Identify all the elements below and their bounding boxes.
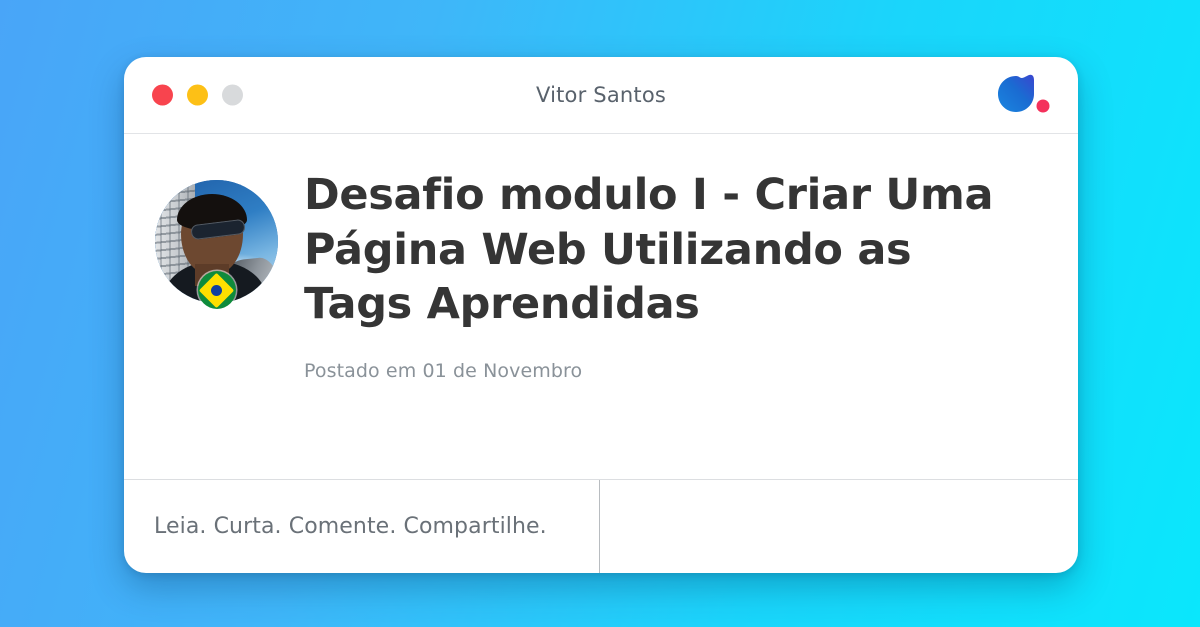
maximize-icon[interactable] [222, 85, 243, 106]
footer-tagline: Leia. Curta. Comente. Compartilhe. [154, 514, 547, 539]
dio-droplet-logo-icon [994, 70, 1056, 120]
post-date: Postado em 01 de Novembro [304, 360, 1038, 382]
flag-globe-shape [211, 285, 222, 296]
browser-window-card: Vitor Santos [124, 57, 1078, 573]
footer-left-cell: Leia. Curta. Comente. Compartilhe. [124, 480, 600, 573]
brazil-flag-badge-icon [198, 271, 236, 309]
window-title: Vitor Santos [124, 83, 1078, 107]
page-background: Vitor Santos [0, 0, 1200, 627]
page-title: Desafio modulo I - Criar Uma Página Web … [304, 168, 994, 332]
footer-right-cell [600, 480, 1078, 573]
window-controls[interactable] [152, 85, 243, 106]
flag-diamond-shape [199, 272, 234, 307]
avatar [155, 180, 278, 303]
close-icon[interactable] [152, 85, 173, 106]
post-body: Desafio modulo I - Criar Uma Página Web … [124, 134, 1078, 480]
card-footer: Leia. Curta. Comente. Compartilhe. [124, 480, 1078, 573]
minimize-icon[interactable] [187, 85, 208, 106]
window-titlebar: Vitor Santos [124, 57, 1078, 134]
post-text-column: Desafio modulo I - Criar Uma Página Web … [278, 168, 1038, 382]
